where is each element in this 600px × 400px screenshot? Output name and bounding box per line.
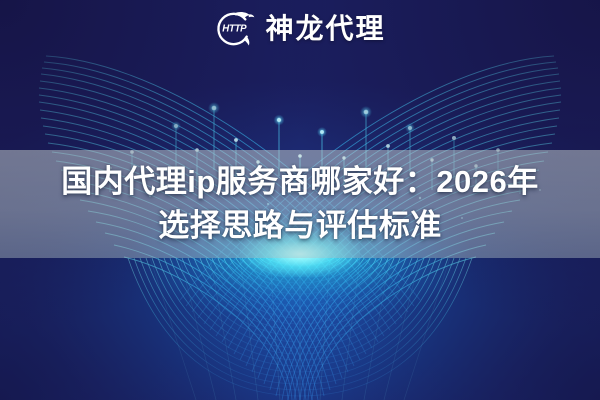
banner-root: HTTP 神龙代理 国内代理ip服务商哪家好：2026年 选择思路与评估标准 <box>0 0 600 400</box>
dragon-http-emblem-icon: HTTP <box>214 9 256 49</box>
headline-line-1: 国内代理ip服务商哪家好：2026年 <box>61 161 539 203</box>
headline-line-2: 选择思路与评估标准 <box>158 205 442 247</box>
svg-text:HTTP: HTTP <box>223 24 248 35</box>
brand-logo: HTTP 神龙代理 <box>0 6 600 52</box>
brand-name: 神龙代理 <box>265 15 385 43</box>
headline-block: 国内代理ip服务商哪家好：2026年 选择思路与评估标准 <box>0 152 600 256</box>
